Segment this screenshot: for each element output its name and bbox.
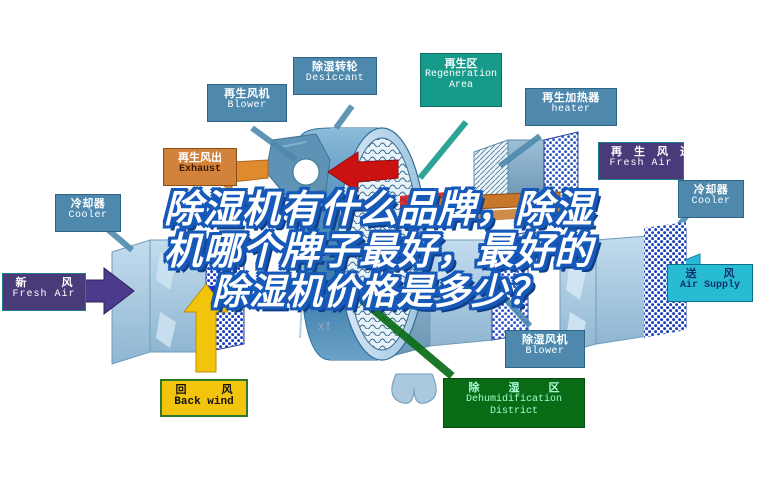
label-dehum-district-en: Dehumidification (444, 394, 584, 405)
label-regen-blower-cn: 再生风机 (208, 88, 286, 100)
headline-line-3: 除湿机价格是多少？ (0, 272, 757, 314)
label-back-wind-cn: 回 风 (162, 384, 246, 396)
label-desiccant-en: Desiccant (294, 73, 376, 84)
headline-line-2: 机哪个牌子最好，最好的 (0, 230, 757, 272)
label-regen-heater-cn: 再生加热器 (526, 92, 616, 104)
label-dehum-blower: 除湿风机 Blower (505, 330, 585, 368)
label-regen-fresh-air: 再生风进 Fresh Air (598, 142, 684, 180)
label-regeneration-area: 再生区 Regeneration Area (420, 53, 502, 107)
label-exhaust: 再生风出 Exhaust (163, 148, 237, 186)
label-regen-heater: 再生加热器 heater (525, 88, 617, 126)
label-dehumidification-district: 除 湿 区 Dehumidification District (443, 378, 585, 428)
label-dehum-district-en2: District (444, 406, 584, 417)
headline-line-1: 除湿机有什么品牌，除湿 (0, 188, 757, 230)
label-desiccant-cn: 除湿转轮 (294, 61, 376, 73)
label-regen-fresh-air-cn: 再生风进 (599, 146, 683, 158)
label-dehum-district-cn: 除 湿 区 (444, 382, 584, 394)
label-exhaust-en: Exhaust (164, 164, 236, 175)
diagram-canvas: xt 除湿转轮 Desiccant 再生风机 Blower 再生区 Regene… (0, 0, 757, 488)
watermark: xt (318, 318, 332, 333)
label-regen-fresh-air-en: Fresh Air (599, 158, 683, 169)
label-dehum-blower-en: Blower (506, 346, 584, 357)
label-exhaust-cn: 再生风出 (164, 152, 236, 164)
label-back-wind: 回 风 Back wind (160, 379, 248, 417)
label-dehum-blower-cn: 除湿风机 (506, 334, 584, 346)
label-regeneration-area-en: Regeneration Area (421, 70, 501, 91)
label-desiccant: 除湿转轮 Desiccant (293, 57, 377, 95)
label-regen-blower-en: Blower (208, 100, 286, 111)
label-regen-heater-en: heater (526, 104, 616, 115)
overlay-headline: 除湿机有什么品牌，除湿 机哪个牌子最好，最好的 除湿机价格是多少？ (0, 188, 757, 314)
label-regen-blower: 再生风机 Blower (207, 84, 287, 122)
label-back-wind-en: Back wind (162, 396, 246, 408)
